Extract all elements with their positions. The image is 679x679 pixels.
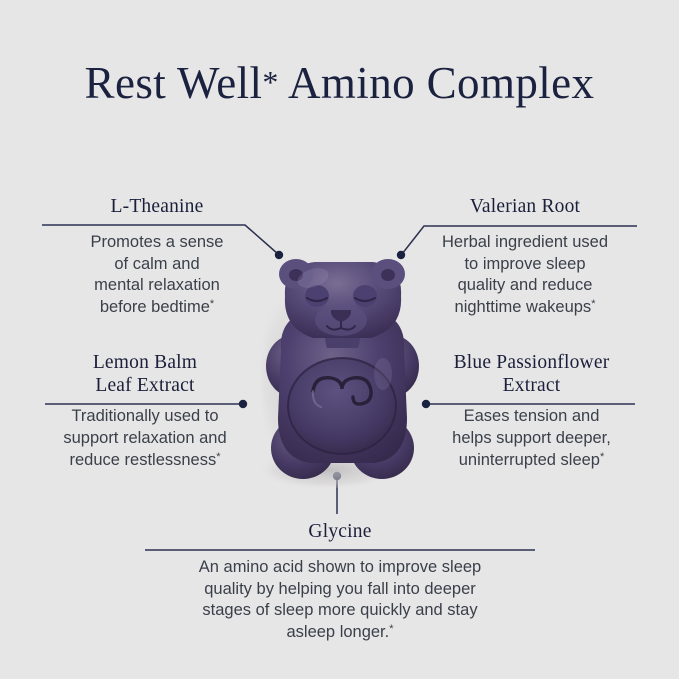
callout-lemon-balm-leaf-extract: Lemon Balm Leaf Extract Traditionally us… [40,352,250,472]
bear-highlight-arm [374,358,392,390]
callout-heading-blue-passionflower-extract: Blue Passionflower Extract [424,352,639,397]
callout-glycine: Glycine An amino acid shown to improve s… [140,521,540,644]
callout-rule-spacer [410,219,640,232]
callout-body-lemon-balm-leaf-extract: Traditionally used to support relaxation… [40,406,250,472]
callout-body-glycine: An amino acid shown to improve sleep qua… [140,557,540,645]
callout-body-l-theanine: Promotes a sense of calm and mental rela… [42,232,272,320]
bear-eye-right [353,285,377,307]
callout-valerian-root: Valerian Root Herbal ingredient used to … [410,196,640,319]
callout-body-text: Promotes a sense of calm and mental rela… [91,233,224,317]
callout-body-text: Eases tension and helps support deeper, … [452,407,611,469]
page-title-main: Rest Well [85,58,263,108]
infographic-page: Rest Well* Amino Complex [0,0,679,679]
footnote-asterisk: * [216,451,220,463]
callout-body-valerian-root: Herbal ingredient used to improve sleep … [410,232,640,320]
callout-rule-spacer [40,397,250,406]
page-title-asterisk: * [262,64,278,100]
callout-rule-spacer [424,397,639,406]
callout-body-text: An amino acid shown to improve sleep qua… [199,558,481,642]
footnote-asterisk: * [591,298,595,310]
footnote-asterisk: * [210,298,214,310]
callout-heading-l-theanine: L-Theanine [42,196,272,219]
callout-body-text: Herbal ingredient used to improve sleep … [442,233,608,317]
callout-heading-glycine: Glycine [140,521,540,544]
callout-heading-valerian-root: Valerian Root [410,196,640,219]
footnote-asterisk: * [389,623,393,635]
callout-l-theanine: L-Theanine Promotes a sense of calm and … [42,196,272,319]
callout-rule-spacer [140,544,540,557]
page-title: Rest Well* Amino Complex [0,57,679,109]
page-title-rest: Amino Complex [279,58,595,108]
product-image-gummy-bear [255,258,430,488]
callout-heading-lemon-balm-leaf-extract: Lemon Balm Leaf Extract [40,352,250,397]
callout-body-text: Traditionally used to support relaxation… [63,407,226,469]
callout-rule-spacer [42,219,272,232]
footnote-asterisk: * [600,451,604,463]
callout-blue-passionflower-extract: Blue Passionflower Extract Eases tension… [424,352,639,472]
bear-ear-inner-right [381,269,395,281]
callout-body-blue-passionflower-extract: Eases tension and helps support deeper, … [424,406,639,472]
bear-eye-left [305,285,329,307]
